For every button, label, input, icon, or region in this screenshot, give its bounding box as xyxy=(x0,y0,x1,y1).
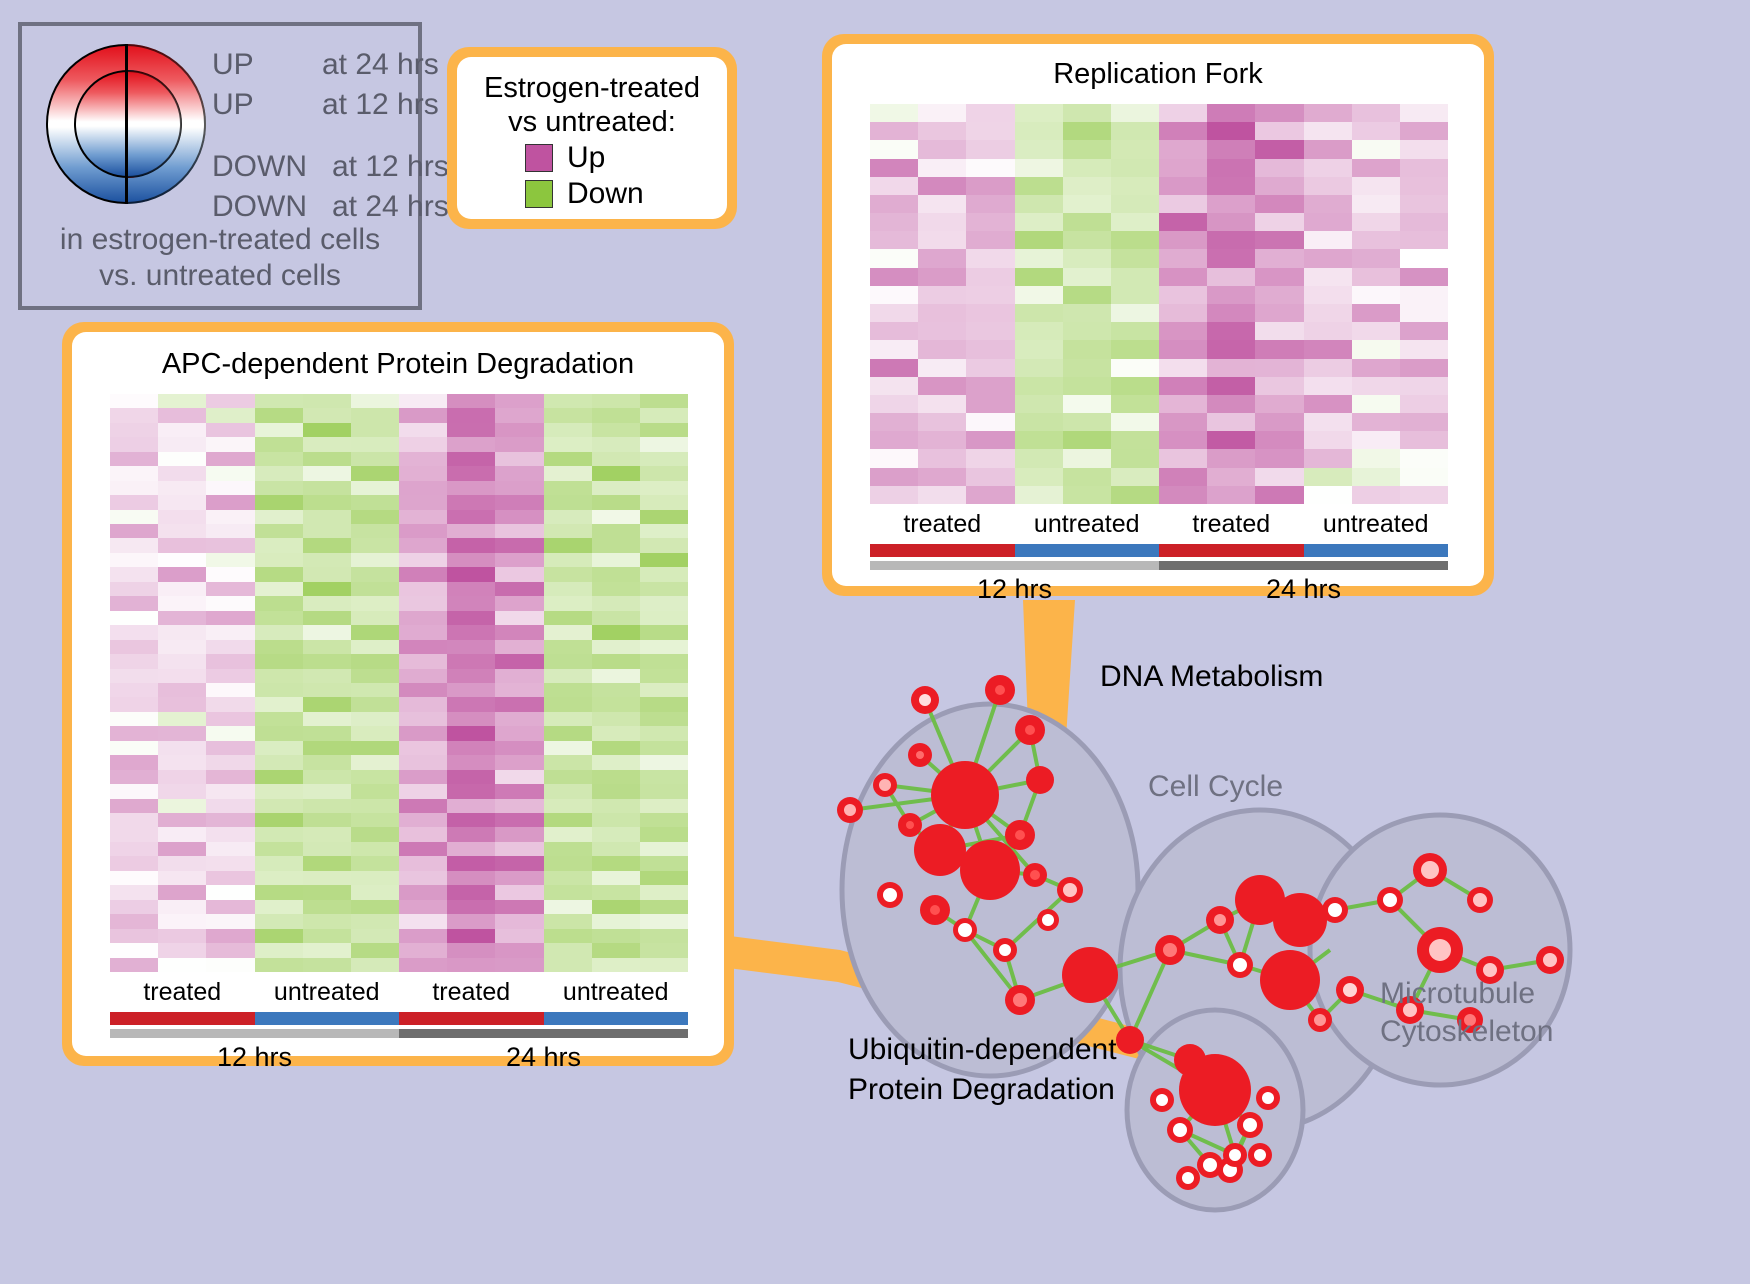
heatmap-cell xyxy=(1159,177,1207,195)
treatment-bar-segment xyxy=(1304,544,1449,557)
heatmap-cell xyxy=(966,377,1014,395)
swatch-down-icon xyxy=(525,180,553,208)
key-label-down-24: DOWN xyxy=(212,190,307,224)
heatmap-cell xyxy=(918,468,966,486)
heatmap-cell xyxy=(110,799,158,813)
heatmap-cell xyxy=(255,452,303,466)
heatmap-cell xyxy=(966,449,1014,467)
heatmap-cell xyxy=(110,958,158,972)
column-group-labels-replication-fork: treateduntreatedtreateduntreated xyxy=(870,510,1448,539)
heatmap-cell xyxy=(1063,286,1111,304)
heatmap-cell xyxy=(447,856,495,870)
heatmap-cell xyxy=(206,423,254,437)
heatmap-cell xyxy=(544,697,592,711)
treatment-bar-segment xyxy=(399,1012,544,1025)
heatmap-cell xyxy=(640,524,688,538)
heatmap-cell xyxy=(966,104,1014,122)
heatmap-cell xyxy=(1111,159,1159,177)
heatmap-apc xyxy=(110,394,688,972)
heatmap-cell xyxy=(399,510,447,524)
heatmap-cell xyxy=(303,770,351,784)
heatmap-cell xyxy=(303,755,351,769)
heatmap-cell xyxy=(158,827,206,841)
heatmap-cell xyxy=(351,712,399,726)
heatmap-cell xyxy=(592,596,640,610)
heatmap-cell xyxy=(544,741,592,755)
heatmap-cell xyxy=(1207,231,1255,249)
legend-item-down: Down xyxy=(525,177,717,211)
heatmap-cell xyxy=(1352,104,1400,122)
heatmap-cell xyxy=(640,596,688,610)
heatmap-cell xyxy=(303,596,351,610)
heatmap-cell xyxy=(1015,340,1063,358)
heatmap-cell xyxy=(1304,322,1352,340)
heatmap-cell xyxy=(870,249,918,267)
heatmap-cell xyxy=(158,423,206,437)
heatmap-cell xyxy=(1015,159,1063,177)
heatmap-cell xyxy=(1352,231,1400,249)
heatmap-cell xyxy=(1352,286,1400,304)
heatmap-cell xyxy=(495,683,543,697)
heatmap-cell xyxy=(640,582,688,596)
heatmap-cell xyxy=(447,394,495,408)
heatmap-cell xyxy=(303,943,351,957)
heatmap-cell xyxy=(255,524,303,538)
heatmap-cell xyxy=(640,394,688,408)
heatmap-cell xyxy=(592,481,640,495)
heatmap-cell xyxy=(303,524,351,538)
heatmap-cell xyxy=(206,929,254,943)
heatmap-cell xyxy=(592,741,640,755)
heatmap-cell xyxy=(1159,231,1207,249)
heatmap-cell xyxy=(1304,213,1352,231)
heatmap-cell xyxy=(447,640,495,654)
heatmap-cell xyxy=(1207,177,1255,195)
heatmap-cell xyxy=(544,958,592,972)
heatmap-cell xyxy=(255,394,303,408)
heatmap-cell xyxy=(1207,322,1255,340)
heatmap-cell xyxy=(1063,468,1111,486)
heatmap-cell xyxy=(399,914,447,928)
heatmap-cell xyxy=(110,914,158,928)
timepoint-bar-segment xyxy=(870,561,1159,570)
heatmap-cell xyxy=(399,596,447,610)
heatmap-cell xyxy=(351,799,399,813)
heatmap-cell xyxy=(110,538,158,552)
heatmap-cell xyxy=(1111,231,1159,249)
heatmap-cell xyxy=(399,842,447,856)
heatmap-cell xyxy=(1304,159,1352,177)
heatmap-cell xyxy=(1207,468,1255,486)
heatmap-cell xyxy=(110,755,158,769)
heatmap-cell xyxy=(1255,431,1303,449)
heatmap-cell xyxy=(206,856,254,870)
heatmap-cell xyxy=(495,669,543,683)
heatmap-cell xyxy=(918,104,966,122)
timepoint-bar-segment xyxy=(1159,561,1448,570)
heatmap-cell xyxy=(158,510,206,524)
heatmap-cell xyxy=(351,669,399,683)
heatmap-cell xyxy=(592,697,640,711)
heatmap-cell xyxy=(399,856,447,870)
legend-label-up: Up xyxy=(567,141,605,175)
treatment-bar-segment xyxy=(255,1012,400,1025)
heatmap-cell xyxy=(1207,431,1255,449)
heatmap-cell xyxy=(206,914,254,928)
heatmap-cell xyxy=(303,640,351,654)
heatmap-cell xyxy=(966,213,1014,231)
heatmap-cell xyxy=(351,538,399,552)
heatmap-cell xyxy=(1400,249,1448,267)
heatmap-cell xyxy=(255,596,303,610)
heatmap-cell xyxy=(351,553,399,567)
heatmap-cell xyxy=(255,697,303,711)
heatmap-cell xyxy=(918,377,966,395)
heatmap-cell xyxy=(1207,213,1255,231)
heatmap-cell xyxy=(206,466,254,480)
heatmap-cell xyxy=(110,929,158,943)
heatmap-cell xyxy=(1015,413,1063,431)
heatmap-cell xyxy=(966,431,1014,449)
heatmap-cell xyxy=(544,466,592,480)
heatmap-cell xyxy=(544,524,592,538)
heatmap-cell xyxy=(255,900,303,914)
heatmap-cell xyxy=(544,408,592,422)
heatmap-cell xyxy=(918,177,966,195)
heatmap-cell xyxy=(1304,413,1352,431)
heatmap-cell xyxy=(1063,213,1111,231)
heatmap-cell xyxy=(1304,286,1352,304)
heatmap-cell xyxy=(640,611,688,625)
heatmap-cell xyxy=(592,726,640,740)
heatmap-cell xyxy=(255,784,303,798)
heatmap-cell xyxy=(255,726,303,740)
heatmap-cell xyxy=(255,654,303,668)
heatmap-cell xyxy=(544,943,592,957)
heatmap-cell xyxy=(399,567,447,581)
heatmap-cell xyxy=(918,286,966,304)
heatmap-cell xyxy=(399,553,447,567)
heatmap-cell xyxy=(303,408,351,422)
heatmap-cell xyxy=(303,900,351,914)
heatmap-cell xyxy=(303,842,351,856)
heatmap-cell xyxy=(640,929,688,943)
heatmap-cell xyxy=(255,799,303,813)
heatmap-cell xyxy=(1304,195,1352,213)
heatmap-cell xyxy=(206,452,254,466)
heatmap-cell xyxy=(399,654,447,668)
treatment-color-bar-apc xyxy=(110,1012,688,1025)
heatmap-cell xyxy=(966,122,1014,140)
heatmap-cell xyxy=(640,625,688,639)
heatmap-cell xyxy=(1207,359,1255,377)
heatmap-cell xyxy=(1400,486,1448,504)
heatmap-cell xyxy=(544,481,592,495)
heatmap-cell xyxy=(447,827,495,841)
heatmap-cell xyxy=(1255,449,1303,467)
heatmap-cell xyxy=(1400,340,1448,358)
heatmap-cell xyxy=(640,755,688,769)
heatmap-cell xyxy=(495,842,543,856)
heatmap-cell xyxy=(303,553,351,567)
column-group-label: treated xyxy=(1159,510,1304,539)
heatmap-cell xyxy=(1255,249,1303,267)
heatmap-cell xyxy=(1063,195,1111,213)
heatmap-cell xyxy=(640,408,688,422)
cluster-label-microtubule-line2: Cytoskeleton xyxy=(1380,1013,1553,1051)
heatmap-cell xyxy=(870,431,918,449)
heatmap-cell xyxy=(110,510,158,524)
heatmap-cell xyxy=(1352,449,1400,467)
heatmap-cell xyxy=(110,553,158,567)
pathway-network-diagram: DNA Metabolism Cell Cycle Microtubule Cy… xyxy=(790,620,1750,1279)
heatmap-cell xyxy=(399,755,447,769)
heatmap-cell xyxy=(206,683,254,697)
heatmap-cell xyxy=(303,394,351,408)
heatmap-cell xyxy=(640,640,688,654)
heatmap-cell xyxy=(399,437,447,451)
heatmap-cell xyxy=(206,611,254,625)
heatmap-cell xyxy=(640,437,688,451)
heatmap-cell xyxy=(1159,268,1207,286)
heatmap-cell xyxy=(206,726,254,740)
heatmap-cell xyxy=(206,784,254,798)
heatmap-cell xyxy=(1255,104,1303,122)
heatmap-cell xyxy=(351,495,399,509)
heatmap-cell xyxy=(399,466,447,480)
heatmap-cell xyxy=(1015,395,1063,413)
heatmap-cell xyxy=(255,712,303,726)
heatmap-cell xyxy=(255,943,303,957)
heatmap-cell xyxy=(447,654,495,668)
heatmap-cell xyxy=(158,871,206,885)
heatmap-cell xyxy=(110,437,158,451)
heatmap-cell xyxy=(206,697,254,711)
heatmap-cell xyxy=(351,755,399,769)
heatmap-cell xyxy=(592,437,640,451)
heatmap-cell xyxy=(1255,159,1303,177)
heatmap-cell xyxy=(1400,449,1448,467)
column-group-label: untreated xyxy=(1304,510,1449,539)
heatmap-cell xyxy=(1159,286,1207,304)
heatmap-cell xyxy=(1159,413,1207,431)
heatmap-cell xyxy=(1255,213,1303,231)
heatmap-cell xyxy=(1352,413,1400,431)
heatmap-cell xyxy=(592,423,640,437)
heatmap-cell xyxy=(1352,195,1400,213)
heatmap-cell xyxy=(1400,286,1448,304)
heatmap-cell xyxy=(1255,486,1303,504)
heatmap-cell xyxy=(110,466,158,480)
heatmap-cell xyxy=(255,582,303,596)
heatmap-cell xyxy=(1063,377,1111,395)
heatmap-cell xyxy=(110,640,158,654)
heatmap-cell xyxy=(918,413,966,431)
heatmap-cell xyxy=(110,567,158,581)
heatmap-cell xyxy=(110,481,158,495)
heatmap-cell xyxy=(544,582,592,596)
heatmap-cell xyxy=(447,481,495,495)
heatmap-cell xyxy=(399,423,447,437)
heatmap-cell xyxy=(1400,159,1448,177)
heatmap-cell xyxy=(640,871,688,885)
heatmap-cell xyxy=(544,871,592,885)
column-group-label: untreated xyxy=(544,978,689,1007)
heatmap-cell xyxy=(206,943,254,957)
heatmap-cell xyxy=(110,408,158,422)
heatmap-cell xyxy=(206,524,254,538)
heatmap-cell xyxy=(640,481,688,495)
heatmap-cell xyxy=(110,813,158,827)
heatmap-cell xyxy=(110,943,158,957)
heatmap-cell xyxy=(1159,249,1207,267)
heatmap-cell xyxy=(110,741,158,755)
heatmap-cell xyxy=(495,885,543,899)
heatmap-cell xyxy=(640,856,688,870)
heatmap-cell xyxy=(399,481,447,495)
cluster-label-cell-cycle: Cell Cycle xyxy=(1148,770,1283,804)
heatmap-cell xyxy=(1400,322,1448,340)
heatmap-cell xyxy=(206,900,254,914)
heatmap-cell xyxy=(918,122,966,140)
heatmap-cell xyxy=(1111,395,1159,413)
heatmap-cell xyxy=(255,856,303,870)
heatmap-cell xyxy=(1400,268,1448,286)
heatmap-cell xyxy=(303,437,351,451)
heatmap-cell xyxy=(110,697,158,711)
heatmap-cell xyxy=(495,640,543,654)
heatmap-cell xyxy=(870,340,918,358)
heatmap-cell xyxy=(640,799,688,813)
column-group-label: treated xyxy=(399,978,544,1007)
heatmap-cell xyxy=(1159,468,1207,486)
heatmap-cell xyxy=(592,582,640,596)
heatmap-cell xyxy=(966,231,1014,249)
heatmap-cell xyxy=(1207,140,1255,158)
heatmap-cell xyxy=(966,486,1014,504)
column-group-label: untreated xyxy=(255,978,400,1007)
heatmap-cell xyxy=(303,538,351,552)
heatmap-cell xyxy=(544,842,592,856)
heatmap-cell xyxy=(447,567,495,581)
heatmap-cell xyxy=(1063,122,1111,140)
heatmap-cell xyxy=(447,755,495,769)
heatmap-cell xyxy=(255,611,303,625)
heatmap-cell xyxy=(966,286,1014,304)
heatmap-cell xyxy=(592,871,640,885)
heatmap-cell xyxy=(640,697,688,711)
heatmap-cell xyxy=(640,784,688,798)
heatmap-cell xyxy=(399,495,447,509)
heatmap-cell xyxy=(544,596,592,610)
heatmap-cell xyxy=(966,268,1014,286)
heatmap-cell xyxy=(399,697,447,711)
heatmap-cell xyxy=(1304,468,1352,486)
heatmap-cell xyxy=(447,495,495,509)
heatmap-cell xyxy=(640,770,688,784)
heatmap-cell xyxy=(1255,468,1303,486)
heatmap-cell xyxy=(592,394,640,408)
heatmap-cell xyxy=(1304,304,1352,322)
heatmap-cell xyxy=(870,359,918,377)
heatmap-cell xyxy=(592,856,640,870)
panel-replication-fork: Replication Fork treateduntreatedtreated… xyxy=(822,34,1494,596)
heatmap-cell xyxy=(110,654,158,668)
heatmap-cell xyxy=(495,495,543,509)
treatment-color-bar-replication-fork xyxy=(870,544,1448,557)
column-group-labels-apc: treateduntreatedtreateduntreated xyxy=(110,978,688,1007)
heatmap-cell xyxy=(1207,104,1255,122)
heatmap-cell xyxy=(1063,304,1111,322)
heatmap-cell xyxy=(110,770,158,784)
heatmap-cell xyxy=(303,452,351,466)
heatmap-cell xyxy=(495,452,543,466)
heatmap-cell xyxy=(255,755,303,769)
heatmap-cell xyxy=(495,437,543,451)
heatmap-cell xyxy=(1159,104,1207,122)
heatmap-cell xyxy=(1400,177,1448,195)
heatmap-cell xyxy=(495,755,543,769)
heatmap-cell xyxy=(447,900,495,914)
heatmap-cell xyxy=(158,452,206,466)
heatmap-cell xyxy=(966,468,1014,486)
heatmap-cell xyxy=(870,322,918,340)
heatmap-cell xyxy=(1400,377,1448,395)
heatmap-cell xyxy=(1304,359,1352,377)
heatmap-cell xyxy=(351,625,399,639)
heatmap-cell xyxy=(1304,431,1352,449)
heatmap-cell xyxy=(870,286,918,304)
heatmap-cell xyxy=(110,683,158,697)
heatmap-cell xyxy=(303,567,351,581)
heatmap-cell xyxy=(1255,359,1303,377)
heatmap-cell xyxy=(351,611,399,625)
heatmap-cell xyxy=(158,813,206,827)
heatmap-cell xyxy=(640,726,688,740)
heatmap-cell xyxy=(1207,268,1255,286)
heatmap-cell xyxy=(1015,304,1063,322)
heatmap-cell xyxy=(351,813,399,827)
heatmap-cell xyxy=(918,431,966,449)
heatmap-cell xyxy=(206,741,254,755)
heatmap-cell xyxy=(495,741,543,755)
heatmap-cell xyxy=(918,486,966,504)
heatmap-cell xyxy=(447,842,495,856)
heatmap-cell xyxy=(1255,231,1303,249)
heatmap-cell xyxy=(1111,140,1159,158)
heatmap-cell xyxy=(640,943,688,957)
heatmap-cell xyxy=(351,885,399,899)
heatmap-cell xyxy=(447,943,495,957)
panel-title-apc: APC-dependent Protein Degradation xyxy=(72,332,724,381)
heatmap-cell xyxy=(158,582,206,596)
heatmap-cell xyxy=(1352,359,1400,377)
heatmap-cell xyxy=(592,799,640,813)
heatmap-cell xyxy=(158,929,206,943)
heatmap-cell xyxy=(158,885,206,899)
heatmap-cell xyxy=(1352,140,1400,158)
heatmap-cell xyxy=(1063,449,1111,467)
heatmap-cell xyxy=(1304,231,1352,249)
heatmap-cell xyxy=(1255,195,1303,213)
heatmap-cell xyxy=(640,466,688,480)
heatmap-cell xyxy=(447,683,495,697)
key-time-down-24: at 24 hrs xyxy=(332,190,449,224)
heatmap-cell xyxy=(966,340,1014,358)
heatmap-cell xyxy=(544,640,592,654)
heatmap-cell xyxy=(447,784,495,798)
legend-title-line1: Estrogen-treated xyxy=(467,71,717,105)
